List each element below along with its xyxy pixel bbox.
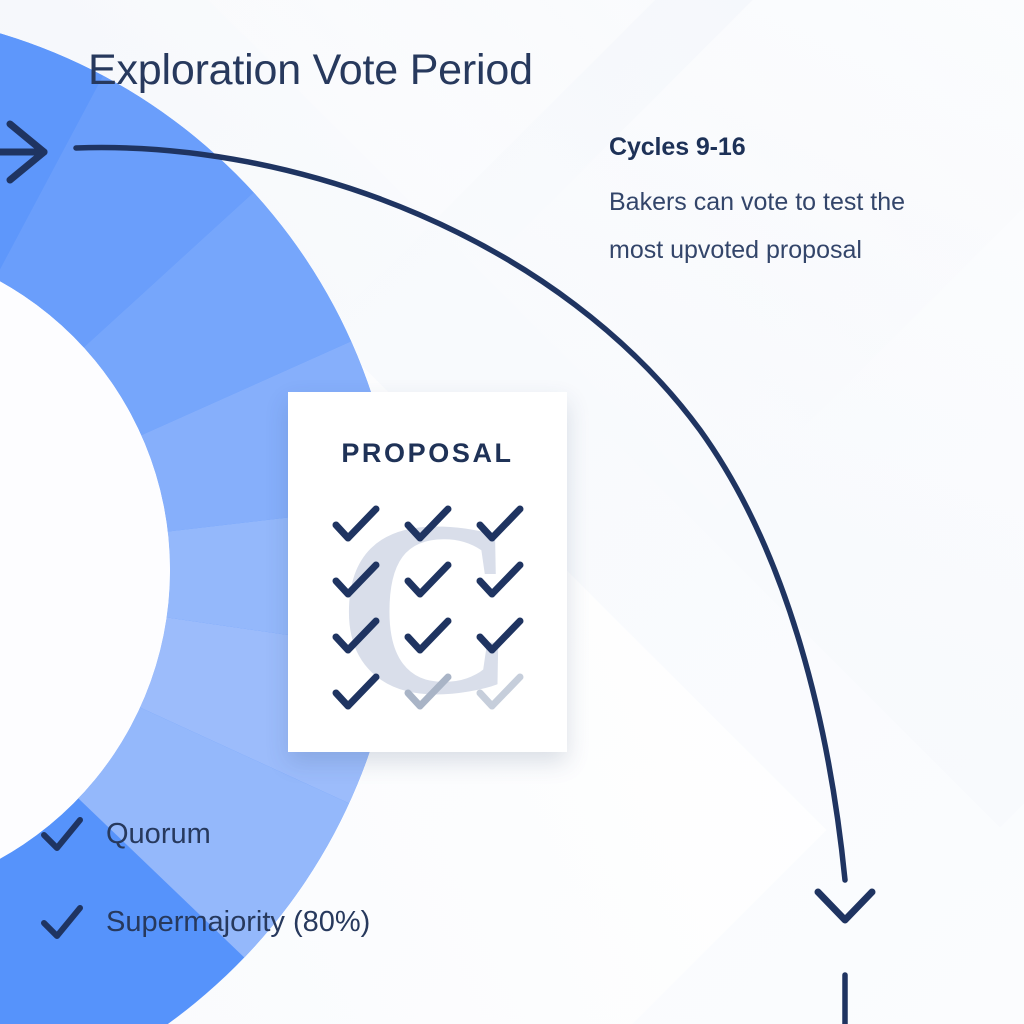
infographic-canvas: Exploration Vote Period Cycles 9-16 Bake… <box>0 0 1024 1024</box>
criteria-list: Quorum Supermajority (80%) <box>38 790 468 966</box>
side-panel: Cycles 9-16 Bakers can vote to test the … <box>609 133 969 274</box>
proposal-card-title: PROPOSAL <box>288 438 567 469</box>
criteria-label-supermajority: Supermajority (80%) <box>106 906 370 939</box>
page-title: Exploration Vote Period <box>88 46 533 95</box>
side-panel-heading: Cycles 9-16 <box>609 133 969 162</box>
proposal-card-artwork: C <box>288 487 567 737</box>
check-icon <box>38 814 84 854</box>
list-item: Supermajority (80%) <box>38 878 468 966</box>
side-panel-body: Bakers can vote to test the most upvoted… <box>609 178 959 274</box>
check-icon <box>38 902 84 942</box>
criteria-label-quorum: Quorum <box>106 818 211 851</box>
proposal-card[interactable]: PROPOSAL C <box>288 392 567 752</box>
list-item: Quorum <box>38 790 468 878</box>
